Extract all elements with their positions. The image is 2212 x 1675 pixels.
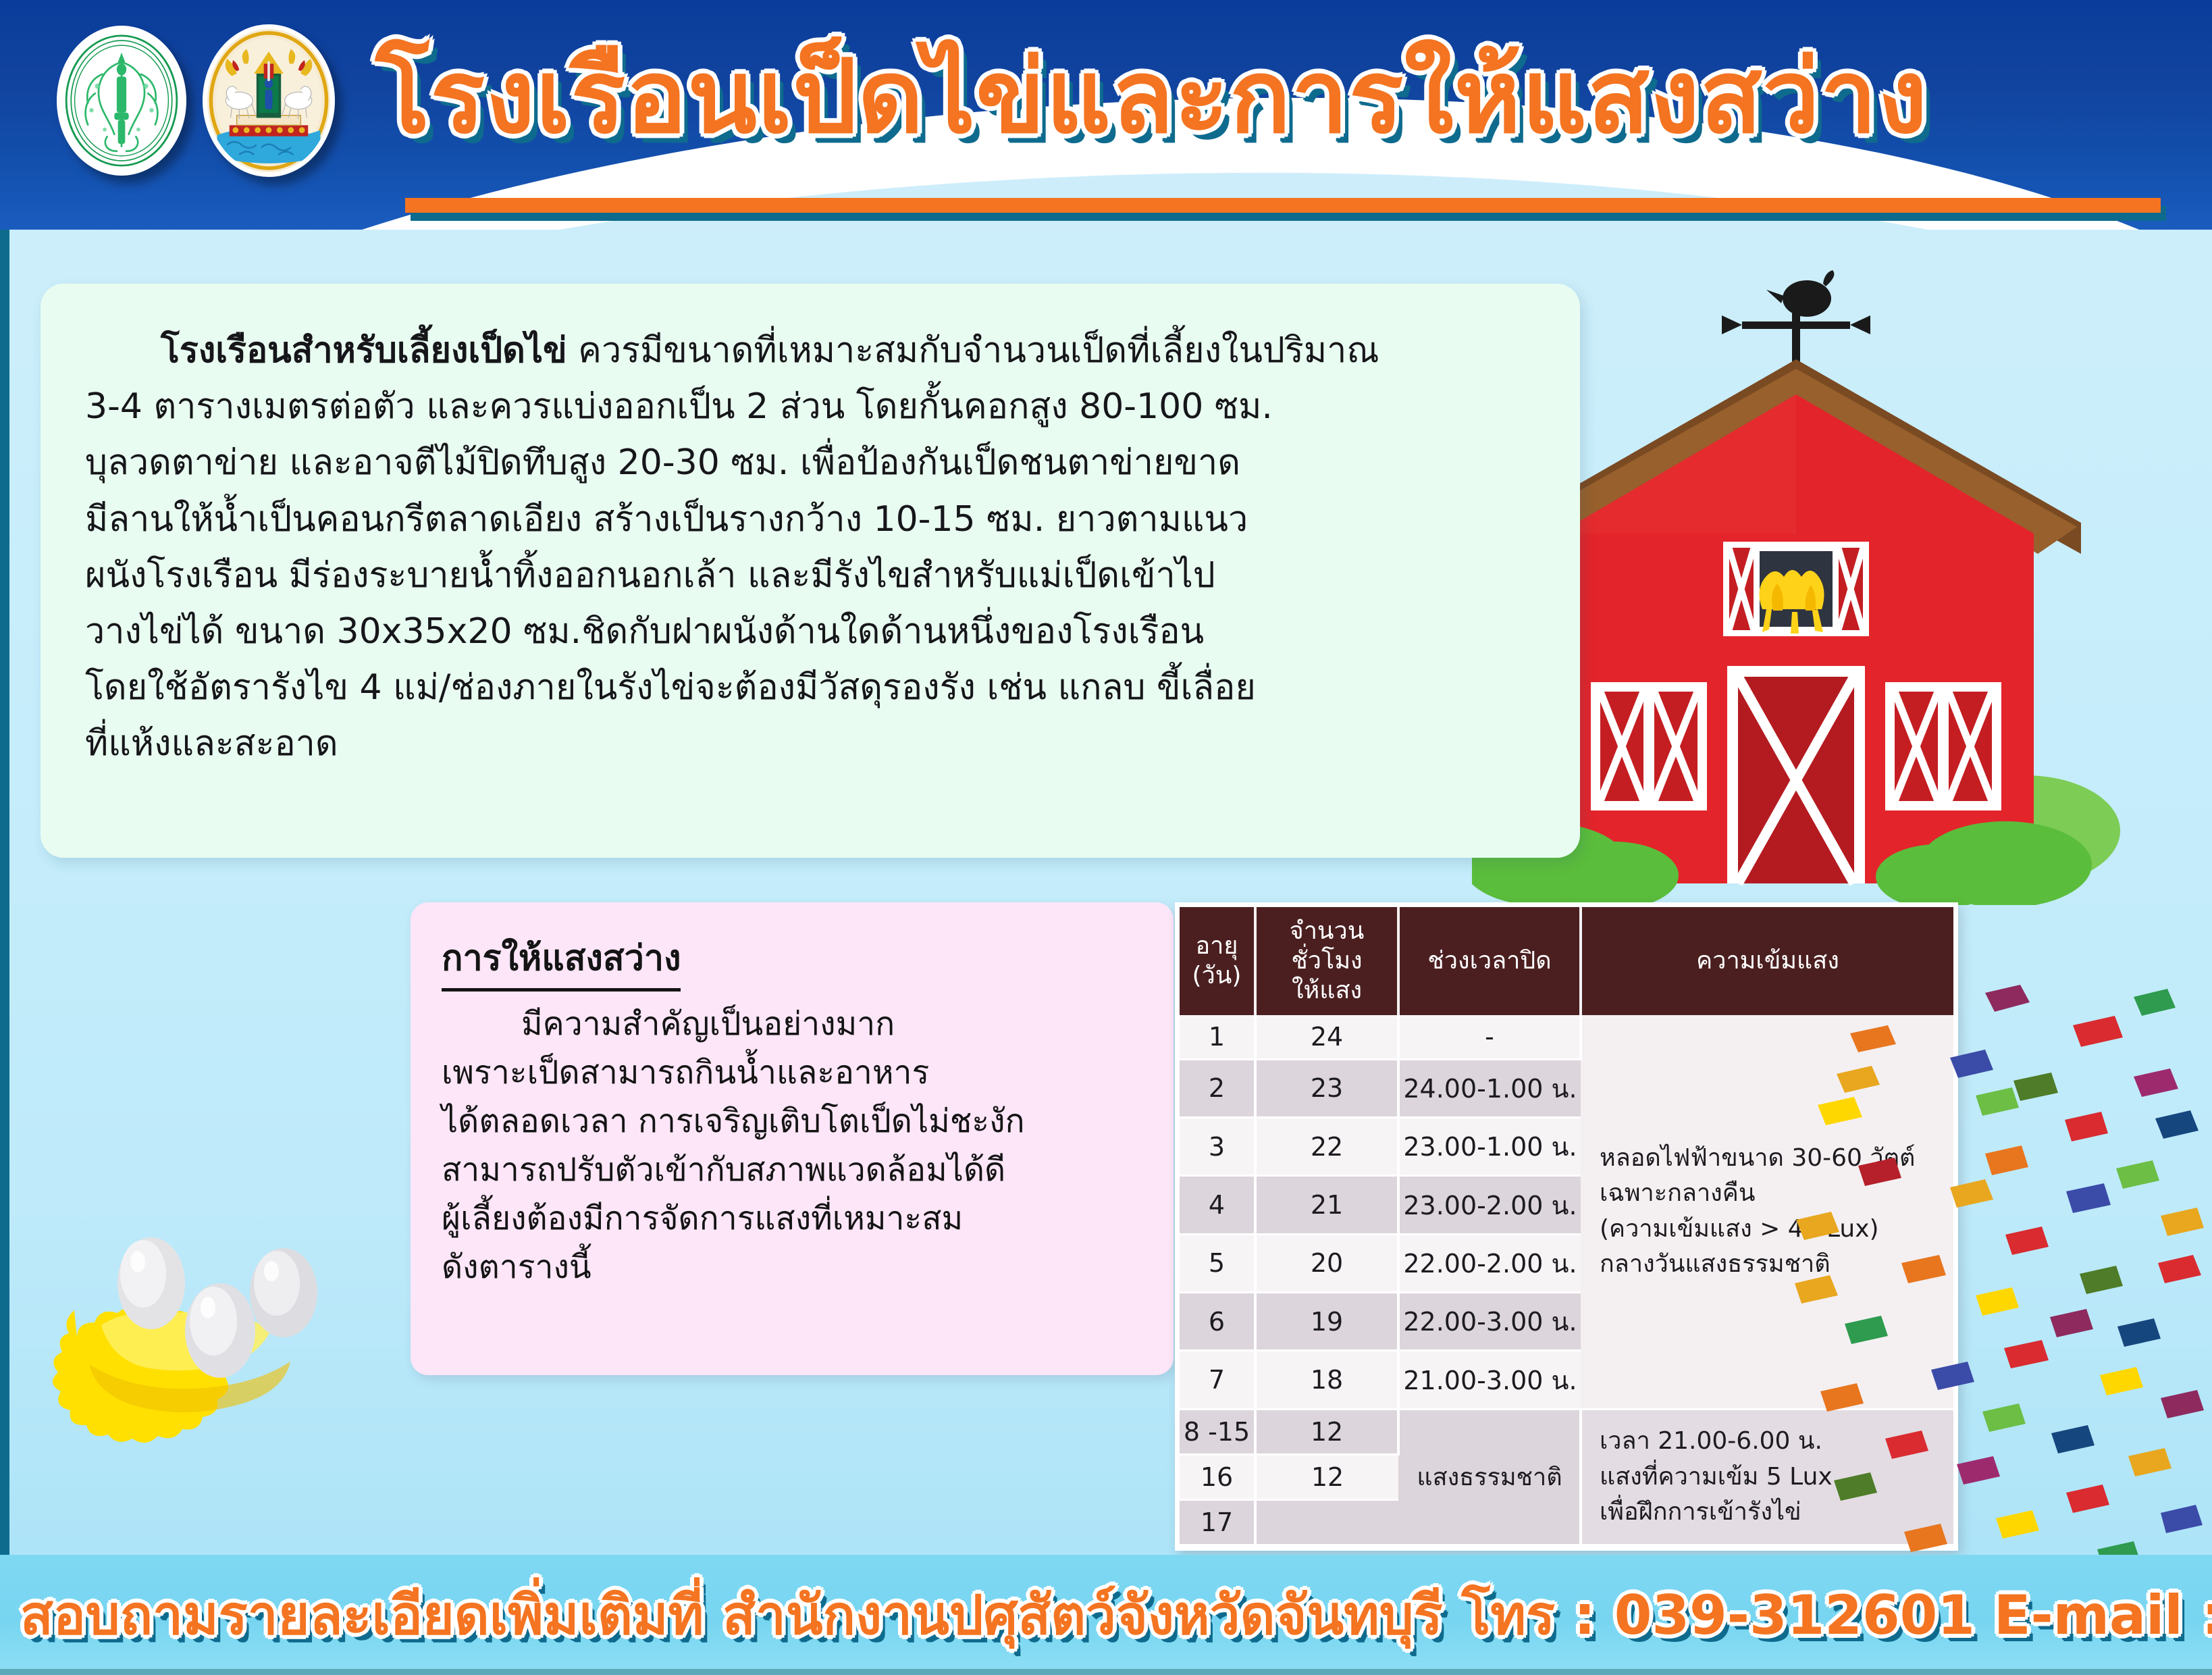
cell-off-period: 21.00-3.00 น. (1398, 1351, 1581, 1409)
lighting-line: เพราะเป็ดสามารถกินน้ำและอาหาร (442, 1048, 1147, 1097)
cell-age: 5 (1180, 1234, 1255, 1292)
col-header-hours: จำนวนชั่วโมง ให้แสง (1255, 907, 1398, 1015)
body-line: ผนังโรงเรือน มีร่องระบายน้ำทิ้งออกนอกเล้… (85, 548, 1533, 604)
lighting-text-panel: การให้แสงสว่าง มีความสำคัญเป็นอย่างมาก เ… (411, 902, 1174, 1375)
footer-contact-text: สอบถามรายละเอียดเพิ่มเติมที่ สำนักงานปศุ… (0, 1572, 2212, 1658)
cell-hours: 12 (1255, 1409, 1398, 1454)
col-header-age-line1: อายุ (1184, 931, 1250, 961)
cell-off-period: - (1398, 1015, 1581, 1059)
cell-off-period: 22.00-2.00 น. (1398, 1234, 1581, 1292)
lighting-line: สามารถปรับตัวเข้ากับสภาพแวดล้อมได้ดี (442, 1145, 1147, 1194)
col-header-off-period: ช่วงเวลาปิด (1398, 907, 1581, 1015)
hayloft-window (1723, 542, 1869, 636)
poster-footer: สอบถามรายละเอียดเพิ่มเติมที่ สำนักงานปศุ… (0, 1555, 2212, 1675)
col-header-hours-line2: ให้แสง (1261, 976, 1393, 1006)
lighting-schedule-table-card: อายุ (วัน) จำนวนชั่วโมง ให้แสง ช่วงเวลาป… (1175, 902, 1958, 1551)
poster-title-container: โรงเรือนเป็ดไข่และการให้แสงสว่าง (375, 16, 2158, 178)
body-line-text: ที่แห้งและสะอาด (85, 723, 338, 764)
body-line: โรงเรือนสำหรับเลี้ยงเป็ดไข่ ควรมีขนาดที่… (85, 323, 1533, 379)
body-line-text: บุลวดตาข่าย และอาจตีไม้ปิดทึบสูง 20-30 ซ… (85, 442, 1240, 483)
intensity-line: เฉพาะกลางคืน (1600, 1176, 1951, 1212)
cell-hours: 22 (1255, 1117, 1398, 1175)
intensity-line: แสงที่ความเข้ม 5 Lux (1600, 1460, 1951, 1495)
egg-nest-illustration (27, 1162, 425, 1445)
egg-left (117, 1237, 185, 1329)
poster-root: โรงเรือนเป็ดไข่และการให้แสงสว่าง (0, 0, 2212, 1675)
cell-age: 6 (1180, 1293, 1255, 1351)
department-of-livestock-development-seal-icon (57, 26, 186, 176)
body-line-text: วางไข่ได้ ขนาด 30x35x20 ซม.ชิดกับฝาผนังด… (85, 611, 1204, 652)
cell-hours: 18 (1255, 1351, 1398, 1409)
title-underline-bar (405, 198, 2161, 213)
barn-main-door (1727, 666, 1865, 883)
cell-hours: 19 (1255, 1293, 1398, 1351)
table-row: 8 -15 12 แสงธรรมชาติ เวลา 21.00-6.00 น. … (1180, 1409, 1953, 1454)
body-line-text: โดยใช้อัตรารังไข 4 แม่/ช่องภายในรังไข่จะ… (85, 667, 1256, 708)
cell-hours (1255, 1499, 1398, 1545)
cell-age: 8 -15 (1180, 1409, 1255, 1454)
col-header-age: อายุ (วัน) (1180, 907, 1255, 1015)
cell-off-period: 22.00-3.00 น. (1398, 1293, 1581, 1351)
col-header-intensity: ความเข้มแสง (1581, 907, 1953, 1015)
lighting-line: ผู้เลี้ยงต้องมีการจัดการแสงที่เหมาะสม (442, 1194, 1147, 1243)
lighting-line: มีความสำคัญเป็นอย่างมาก (442, 1000, 1147, 1048)
cell-age: 7 (1180, 1351, 1255, 1409)
body-lead-term: โรงเรือนสำหรับเลี้ยงเป็ดไข่ (161, 330, 567, 371)
lighting-line: ดังตารางนี้ (442, 1243, 1147, 1291)
body-line-text: ควรมีขนาดที่เหมาะสมกับจำนวนเป็ดที่เลี้ยง… (567, 330, 1379, 371)
cell-off-period: 23.00-1.00 น. (1398, 1117, 1581, 1175)
intensity-line: กลางวันแสงธรรมชาติ (1600, 1247, 1951, 1283)
main-text-panel: โรงเรือนสำหรับเลี้ยงเป็ดไข่ ควรมีขนาดที่… (41, 284, 1580, 858)
body-line: โดยใช้อัตรารังไข 4 แม่/ช่องภายในรังไข่จะ… (85, 660, 1533, 716)
cell-age: 16 (1180, 1454, 1255, 1499)
cell-hours: 24 (1255, 1015, 1398, 1059)
cell-intensity-group-2: เวลา 21.00-6.00 น. แสงที่ความเข้ม 5 Lux … (1581, 1409, 1953, 1545)
body-line: บุลวดตาข่าย และอาจตีไม้ปิดทึบสูง 20-30 ซ… (85, 435, 1533, 491)
body-line-text: ผนังโรงเรือน มีร่องระบายน้ำทิ้งออกนอกเล้… (85, 555, 1215, 596)
cell-natural-light: แสงธรรมชาติ (1398, 1409, 1581, 1545)
cell-age: 17 (1180, 1499, 1255, 1545)
lighting-line: ได้ตลอดเวลา การเจริญเติบโตเป็ดไม่ชะงัก (442, 1097, 1147, 1145)
cell-age: 2 (1180, 1059, 1255, 1117)
intensity-line: เวลา 21.00-6.00 น. (1600, 1424, 1951, 1460)
intensity-line: (ความเข้มแสง > 40 Lux) (1600, 1212, 1951, 1247)
barn-window-right (1885, 682, 2001, 810)
egg-center (185, 1283, 255, 1378)
body-line: 3-4 ตารางเมตรต่อตัว และควรแบ่งออกเป็น 2 … (85, 379, 1533, 435)
col-header-hours-line1: จำนวนชั่วโมง (1261, 917, 1393, 976)
table-header-row: อายุ (วัน) จำนวนชั่วโมง ให้แสง ช่วงเวลาป… (1180, 907, 1953, 1015)
left-edge-stripe (0, 223, 9, 1574)
body-line: ที่แห้งและสะอาด (85, 716, 1533, 772)
chanthaburi-province-seal-icon (203, 24, 335, 177)
cell-hours: 12 (1255, 1454, 1398, 1499)
egg-right (250, 1248, 317, 1337)
col-header-age-line2: (วัน) (1184, 961, 1250, 991)
cell-age: 1 (1180, 1015, 1255, 1059)
cell-intensity-group-1: หลอดไฟฟ้าขนาด 30-60 วัตต์ เฉพาะกลางคืน (… (1581, 1015, 1953, 1410)
table-row: 1 24 - หลอดไฟฟ้าขนาด 30-60 วัตต์ เฉพาะกล… (1180, 1015, 1953, 1059)
cell-hours: 21 (1255, 1176, 1398, 1234)
body-line-text: มีลานให้น้ำเป็นคอนกรีตลาดเอียง สร้างเป็น… (85, 499, 1248, 540)
cell-hours: 23 (1255, 1059, 1398, 1117)
cell-age: 4 (1180, 1176, 1255, 1234)
intensity-line: เพื่อฝึกการเข้ารังไข่ (1600, 1495, 1951, 1530)
cell-off-period: 23.00-2.00 น. (1398, 1176, 1581, 1234)
lighting-schedule-table: อายุ (วัน) จำนวนชั่วโมง ให้แสง ช่วงเวลาป… (1180, 907, 1953, 1546)
page-title: โรงเรือนเป็ดไข่และการให้แสงสว่าง (375, 41, 1928, 154)
intensity-line: หลอดไฟฟ้าขนาด 30-60 วัตต์ (1600, 1141, 1951, 1177)
cell-age: 3 (1180, 1117, 1255, 1175)
body-line-text: 3-4 ตารางเมตรต่อตัว และควรแบ่งออกเป็น 2 … (85, 386, 1273, 427)
cell-hours: 20 (1255, 1234, 1398, 1292)
lighting-heading: การให้แสงสว่าง (442, 929, 681, 991)
body-line: มีลานให้น้ำเป็นคอนกรีตลาดเอียง สร้างเป็น… (85, 492, 1533, 548)
body-line: วางไข่ได้ ขนาด 30x35x20 ซม.ชิดกับฝาผนังด… (85, 604, 1533, 660)
barn-window-left (1591, 682, 1707, 810)
cell-off-period: 24.00-1.00 น. (1398, 1059, 1581, 1117)
